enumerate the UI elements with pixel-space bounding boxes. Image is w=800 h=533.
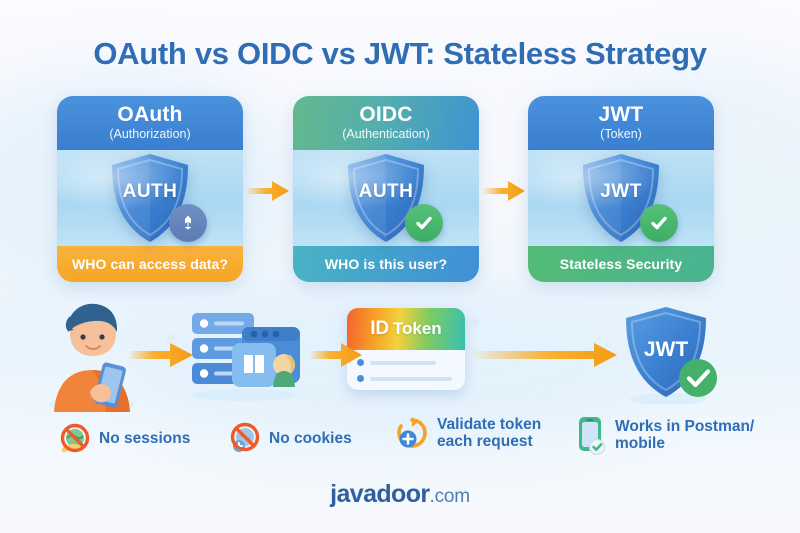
shield-icon <box>578 152 664 244</box>
svg-text:JWT: JWT <box>644 338 689 361</box>
mobile-phone-icon <box>572 415 608 455</box>
infographic-canvas: OAuth vs OIDC vs JWT: Stateless Strategy… <box>0 0 800 533</box>
claim-line <box>370 377 452 381</box>
concept-card-oidc[interactable]: OIDC (Authentication) AUTH WHO is this <box>293 96 479 282</box>
card-title: JWT <box>599 104 644 126</box>
brand-footer[interactable]: javadoor.com <box>0 480 800 509</box>
no-cookies-icon <box>228 422 262 456</box>
feature-label: No cookies <box>269 430 352 447</box>
concept-card-oauth[interactable]: OAuth (Authorization) AUTH WHO can acc <box>57 96 243 282</box>
flow-arrow-icon <box>470 340 618 370</box>
feature-no-sessions: No sessions <box>58 422 190 456</box>
feature-validate-token: Validate token each request <box>394 415 541 451</box>
card-title: OAuth <box>117 104 182 126</box>
shield-label: AUTH <box>343 181 429 203</box>
shield-graphic: AUTH <box>343 152 429 244</box>
id-token-header: ID Token <box>347 308 465 350</box>
concept-card-jwt[interactable]: JWT (Token) JWT Stateless Security <box>528 96 714 282</box>
feature-works-postman-mobile: Works in Postman/ mobile <box>572 415 754 455</box>
list-item <box>357 375 455 382</box>
id-token-label-id: ID <box>370 318 389 340</box>
feature-label: No sessions <box>99 430 190 447</box>
server-stack-icon <box>186 305 306 401</box>
card-subtitle: (Authorization) <box>109 128 190 141</box>
flow-arrow-icon <box>128 340 194 370</box>
card-body: AUTH <box>293 150 479 246</box>
brand-tld: .com <box>430 486 470 507</box>
card-header: JWT (Token) <box>528 96 714 150</box>
user-with-phone-icon <box>44 300 140 412</box>
shield-label: JWT <box>578 181 664 203</box>
shield-icon <box>107 152 193 244</box>
card-footer: Stateless Security <box>528 246 714 282</box>
check-icon <box>405 204 443 242</box>
no-sessions-icon <box>58 422 92 456</box>
shield-graphic: AUTH <box>107 152 193 244</box>
card-body: JWT <box>528 150 714 246</box>
card-title: OIDC <box>359 104 412 126</box>
card-header: OIDC (Authentication) <box>293 96 479 150</box>
flow-arrow-icon <box>309 340 363 370</box>
shield-graphic: JWT <box>578 152 664 244</box>
flow-arrow-icon <box>246 178 290 204</box>
card-subtitle: (Token) <box>600 128 642 141</box>
flow-arrow-icon <box>482 178 526 204</box>
background-dot <box>470 318 479 327</box>
card-subtitle: (Authentication) <box>342 128 430 141</box>
brand-name: javadoor <box>330 480 429 508</box>
card-header: OAuth (Authorization) <box>57 96 243 150</box>
page-title: OAuth vs OIDC vs JWT: Stateless Strategy <box>0 36 800 72</box>
list-item <box>357 359 455 366</box>
card-footer: WHO can access data? <box>57 246 243 282</box>
id-token-card[interactable]: ID Token <box>347 308 465 394</box>
shield-icon <box>343 152 429 244</box>
id-token-label-token: Token <box>393 319 442 339</box>
arrow-down-icon <box>169 204 207 242</box>
card-footer: WHO is this user? <box>293 246 479 282</box>
card-body: AUTH <box>57 150 243 246</box>
bullet-dot-icon <box>357 375 364 382</box>
check-icon <box>640 204 678 242</box>
id-token-claims <box>347 350 465 382</box>
claim-line <box>370 361 436 365</box>
shield-label: AUTH <box>107 181 193 203</box>
validate-token-icon <box>394 415 430 451</box>
feature-no-cookies: No cookies <box>228 422 352 456</box>
feature-label: Validate token each request <box>437 416 541 451</box>
feature-label: Works in Postman/ mobile <box>615 418 754 453</box>
jwt-shield-graphic: JWT <box>622 304 718 404</box>
